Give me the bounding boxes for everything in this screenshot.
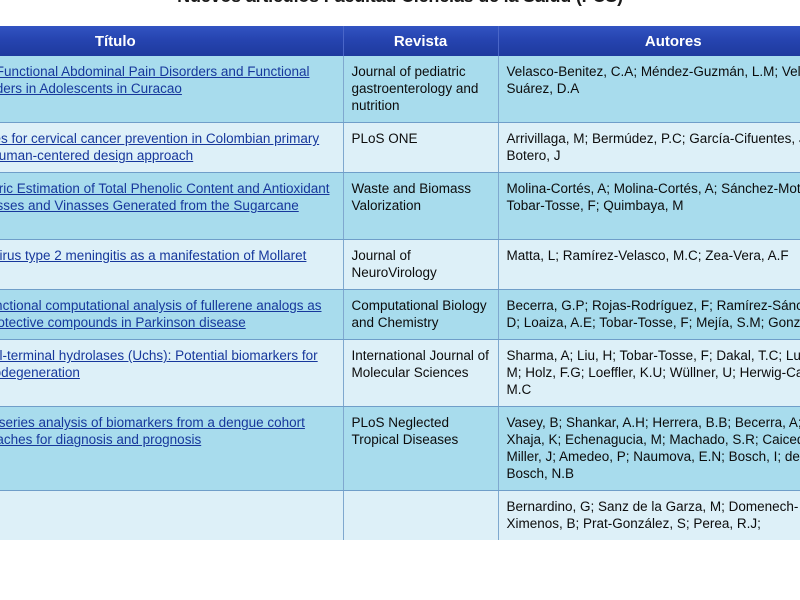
cell-titulo[interactable] [0, 491, 343, 541]
cell-titulo[interactable]: Multivariate time-series analysis of bio… [0, 407, 343, 491]
cell-titulo[interactable]: Spectrophotometric Estimation of Total P… [0, 173, 343, 240]
table-row: Epidemiology of Functional Abdominal Pai… [0, 56, 800, 123]
table-row: Spectrophotometric Estimation of Total P… [0, 173, 800, 240]
article-title-link[interactable]: Epidemiology of Functional Abdominal Pai… [0, 64, 309, 96]
cell-revista: Journal of pediatric gastroenterology an… [343, 56, 498, 123]
article-title-link[interactable]: Herpes simplex virus type 2 meningitis a… [0, 248, 306, 280]
column-header-titulo[interactable]: Título [0, 26, 343, 56]
cell-revista: Journal of NeuroVirology [343, 240, 498, 290]
cell-autores: Velasco-Benitez, C.A; Méndez-Guzmán, L.M… [498, 56, 800, 123]
article-title-link[interactable]: Multivariate time-series analysis of bio… [0, 415, 305, 447]
screenshot-root: Nuevos artículos Facultad Ciencias de la… [0, 0, 800, 600]
cell-titulo[interactable]: Epidemiology of Functional Abdominal Pai… [0, 56, 343, 123]
table-row: Service prototypes for cervical cancer p… [0, 123, 800, 173]
cell-revista: International Journal of Molecular Scien… [343, 340, 498, 407]
articles-table-container: Título Revista Autores Epidemiology of F… [0, 26, 800, 600]
table-row: Bernardino, G; Sanz de la Garza, M; Dome… [0, 491, 800, 541]
column-header-revista[interactable]: Revista [343, 26, 498, 56]
cell-autores: Molina-Cortés, A; Molina-Cortés, A; Sánc… [498, 173, 800, 240]
cell-autores: Matta, L; Ramírez-Velasco, M.C; Zea-Vera… [498, 240, 800, 290]
table-row: Ubiquitin carboxyl-terminal hydrolases (… [0, 340, 800, 407]
table-header-row: Título Revista Autores [0, 26, 800, 56]
page-title: Nuevos artículos Facultad Ciencias de la… [177, 0, 623, 7]
title-divider [0, 21, 800, 22]
column-header-autores[interactable]: Autores [498, 26, 800, 56]
cell-revista: PLoS Neglected Tropical Diseases [343, 407, 498, 491]
table-header: Título Revista Autores [0, 26, 800, 56]
article-title-link[interactable]: Structural and functional computational … [0, 298, 322, 330]
cell-revista [343, 491, 498, 541]
article-title-link[interactable]: Spectrophotometric Estimation of Total P… [0, 181, 330, 230]
cell-autores: Arrivillaga, M; Bermúdez, P.C; García-Ci… [498, 123, 800, 173]
cell-titulo[interactable]: Service prototypes for cervical cancer p… [0, 123, 343, 173]
page-title-bar: Nuevos artículos Facultad Ciencias de la… [0, 0, 800, 9]
article-title-link[interactable]: Service prototypes for cervical cancer p… [0, 131, 319, 163]
cell-autores: Sharma, A; Liu, H; Tobar-Tosse, F; Dakal… [498, 340, 800, 407]
cell-autores: Becerra, G.P; Rojas-Rodríguez, F; Ramíre… [498, 290, 800, 340]
table-row: Structural and functional computational … [0, 290, 800, 340]
table-row: Multivariate time-series analysis of bio… [0, 407, 800, 491]
table-row: Herpes simplex virus type 2 meningitis a… [0, 240, 800, 290]
cell-titulo[interactable]: Herpes simplex virus type 2 meningitis a… [0, 240, 343, 290]
cell-revista: Computational Biology and Chemistry [343, 290, 498, 340]
cell-revista: PLoS ONE [343, 123, 498, 173]
cell-autores: Bernardino, G; Sanz de la Garza, M; Dome… [498, 491, 800, 541]
cell-revista: Waste and Biomass Valorization [343, 173, 498, 240]
cell-autores: Vasey, B; Shankar, A.H; Herrera, B.B; Be… [498, 407, 800, 491]
article-title-link[interactable]: Ubiquitin carboxyl-terminal hydrolases (… [0, 348, 318, 380]
cell-titulo[interactable]: Structural and functional computational … [0, 290, 343, 340]
articles-table: Título Revista Autores Epidemiology of F… [0, 26, 800, 540]
table-body: Epidemiology of Functional Abdominal Pai… [0, 56, 800, 540]
cell-titulo[interactable]: Ubiquitin carboxyl-terminal hydrolases (… [0, 340, 343, 407]
